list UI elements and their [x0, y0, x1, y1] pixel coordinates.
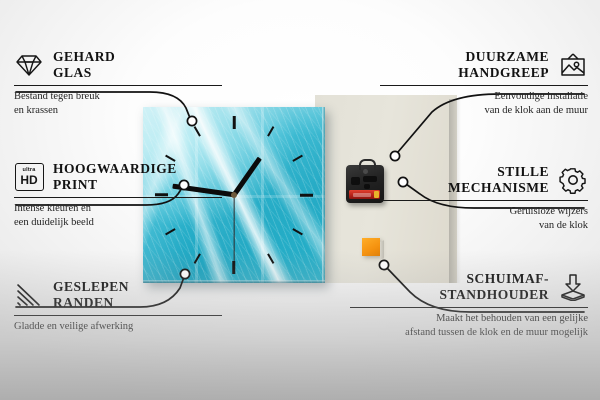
feature-desc-line2: en krassen [14, 104, 222, 118]
feature-desc-line1: Intense kleuren en [14, 202, 222, 216]
feature-title-line1: STILLE [448, 164, 549, 180]
feature-gehard-glas: GEHARD GLAS Bestand tegen breuk en krass… [14, 48, 222, 118]
clock-center-cap [231, 192, 237, 198]
ultra-hd-icon: ultra HD [14, 162, 44, 192]
feature-geslepen-randen: GESLEPEN RANDEN Gladde en veilige afwerk… [14, 278, 222, 334]
foam-spacer-icon [558, 272, 588, 302]
feature-title-line2: MECHANISME [448, 180, 549, 196]
feature-desc-line1: Geruisloze wijzers [380, 205, 588, 219]
product-infographic: GEHARD GLAS Bestand tegen breuk en krass… [0, 0, 600, 400]
feature-desc-line2: afstand tussen de klok en de muur mogeli… [350, 326, 588, 340]
feature-title: STILLE MECHANISME [448, 164, 549, 195]
feature-stille-mechanisme: STILLE MECHANISME Geruisloze wijzers van… [380, 163, 588, 233]
hanging-hook [359, 159, 376, 170]
feature-duurzame-handgreep: DUURZAME HANDGREEP Eenvoudige installati… [380, 48, 588, 118]
diamond-icon [14, 50, 44, 80]
feature-divider [380, 200, 588, 201]
feature-title-line2: RANDEN [53, 295, 129, 311]
mechanism-shaft [363, 169, 368, 174]
feature-desc-line1: Eenvoudige installatie [380, 90, 588, 104]
feature-description: Maakt het behouden van een gelijke afsta… [350, 312, 588, 340]
ultra-hd-icon-large-text: HD [20, 174, 37, 186]
foam-spacer-pad-side [380, 240, 384, 260]
feature-description: Bestand tegen breuk en krassen [14, 90, 222, 118]
feature-divider [14, 315, 222, 316]
battery-label [353, 193, 371, 197]
feature-divider [14, 197, 222, 198]
feature-title-line1: DUURZAME [458, 49, 549, 65]
feature-title-line2: STANDHOUDER [439, 287, 549, 303]
feature-description: Geruisloze wijzers van de klok [380, 205, 588, 233]
feature-schuimaf-standhouder: SCHUIMAF- STANDHOUDER Maakt het behouden… [350, 270, 588, 340]
battery-positive-tip [374, 191, 379, 198]
feature-description: Intense kleuren en een duidelijk beeld [14, 202, 222, 230]
feature-title: HOOGWAARDIGE PRINT [53, 161, 177, 192]
picture-frame-icon [558, 50, 588, 80]
battery [349, 190, 380, 199]
feature-divider [350, 307, 588, 308]
feature-desc-line1: Bestand tegen breuk [14, 90, 222, 104]
feature-title: GEHARD GLAS [53, 49, 115, 80]
foam-spacer-pad [362, 238, 380, 256]
feature-title: DUURZAME HANDGREEP [458, 49, 549, 80]
feature-title-line2: PRINT [53, 177, 177, 193]
feature-desc-line1: Maakt het behouden van een gelijke [350, 312, 588, 326]
clock-mechanism [346, 165, 384, 203]
feature-description: Eenvoudige installatie van de klok aan d… [380, 90, 588, 118]
feature-title-line2: GLAS [53, 65, 115, 81]
feature-hoogwaardige-print: ultra HD HOOGWAARDIGE PRINT Intense kleu… [14, 160, 222, 230]
mechanism-detail-2 [363, 176, 377, 182]
feature-title-line1: SCHUIMAF- [439, 271, 549, 287]
clock-second-hand [233, 195, 234, 261]
feature-divider [14, 85, 222, 86]
clock-glass-edge-right [322, 107, 325, 283]
feature-title-line2: HANDGREEP [458, 65, 549, 81]
gear-icon [558, 165, 588, 195]
feature-description: Gladde en veilige afwerking [14, 320, 222, 334]
feature-desc-line2: van de klok aan de muur [380, 104, 588, 118]
beveled-edge-icon [14, 280, 44, 310]
feature-title: GESLEPEN RANDEN [53, 279, 129, 310]
feature-title-line1: GESLEPEN [53, 279, 129, 295]
mechanism-detail-3 [364, 184, 370, 189]
feature-divider [380, 85, 588, 86]
mechanism-detail-1 [351, 177, 360, 185]
feature-title: SCHUIMAF- STANDHOUDER [439, 271, 549, 302]
feature-desc-line2: een duidelijk beeld [14, 216, 222, 230]
feature-desc-line1: Gladde en veilige afwerking [14, 320, 222, 334]
feature-desc-line2: van de klok [380, 219, 588, 233]
feature-title-line1: HOOGWAARDIGE [53, 161, 177, 177]
feature-title-line1: GEHARD [53, 49, 115, 65]
